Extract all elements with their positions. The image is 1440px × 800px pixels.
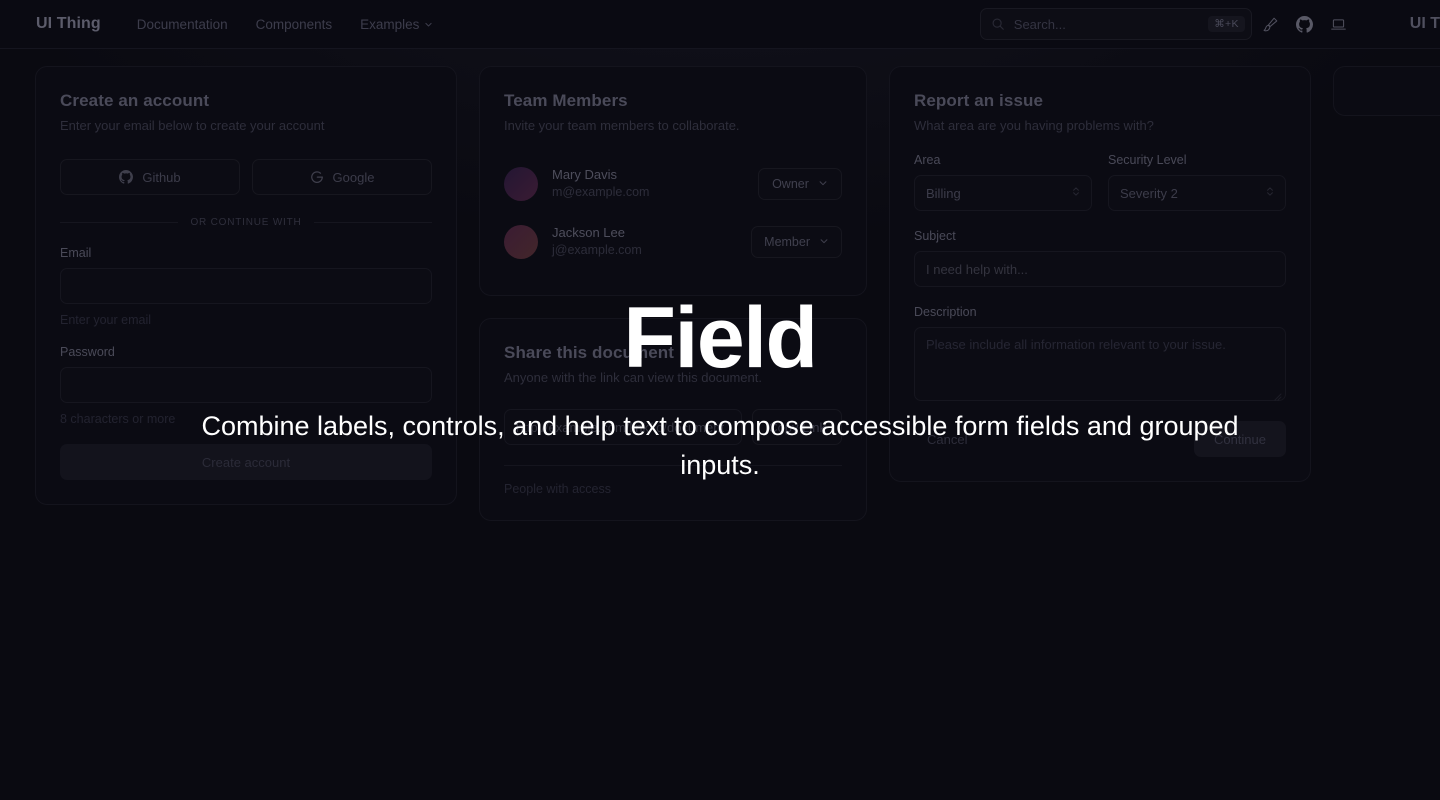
google-oauth-label: Google xyxy=(333,170,375,185)
team-members-description: Invite your team members to collaborate. xyxy=(504,118,842,133)
member-email: m@example.com xyxy=(552,184,649,201)
google-icon xyxy=(310,170,324,184)
search-input[interactable]: Search... ⌘+K xyxy=(980,8,1252,40)
member-role-label: Member xyxy=(764,235,810,249)
member-role-label: Owner xyxy=(772,177,809,191)
share-document-description: Anyone with the link can view this docum… xyxy=(504,370,842,385)
chevron-down-icon xyxy=(424,20,433,29)
divider-label: OR CONTINUE WITH xyxy=(190,217,301,228)
member-name: Mary Davis xyxy=(552,167,649,184)
password-field-group: Password 8 characters or more xyxy=(60,345,432,426)
column-two: Team Members Invite your team members to… xyxy=(479,66,867,521)
divider-line-right xyxy=(314,222,432,223)
security-level-select-value: Severity 2 xyxy=(1120,186,1178,201)
table-row: Jackson Lee j@example.com Member xyxy=(504,213,842,271)
github-icon[interactable] xyxy=(1290,9,1320,39)
report-issue-title: Report an issue xyxy=(914,91,1286,111)
continue-button[interactable]: Continue xyxy=(1194,421,1286,457)
laptop-icon[interactable] xyxy=(1324,9,1354,39)
search-placeholder: Search... xyxy=(1014,17,1066,32)
team-members-card: Team Members Invite your team members to… xyxy=(479,66,867,296)
top-navbar: UI Thing Documentation Components Exampl… xyxy=(0,0,1440,49)
github-oauth-label: Github xyxy=(142,170,180,185)
share-document-card: Share this document Anyone with the link… xyxy=(479,318,867,521)
share-document-title: Share this document xyxy=(504,343,842,363)
create-account-description: Enter your email below to create your ac… xyxy=(60,118,432,133)
security-level-select[interactable]: Severity 2 xyxy=(1108,175,1286,211)
navbar-right: Search... ⌘+K UI T xyxy=(980,8,1440,40)
copy-link-button[interactable]: Copy Link xyxy=(752,409,842,445)
report-issue-description: What area are you having problems with? xyxy=(914,118,1286,133)
member-info: Mary Davis m@example.com xyxy=(552,167,649,201)
nav-link-examples-label: Examples xyxy=(360,17,419,32)
subject-label: Subject xyxy=(914,229,1286,243)
app-root: UI Thing Documentation Components Exampl… xyxy=(0,0,1440,800)
report-issue-actions: Cancel Continue xyxy=(914,421,1286,457)
cancel-button[interactable]: Cancel xyxy=(914,421,980,457)
team-member-list: Mary Davis m@example.com Owner xyxy=(504,155,842,271)
area-field-group: Area Billing xyxy=(914,153,1092,211)
email-input[interactable] xyxy=(60,268,432,304)
offscreen-card xyxy=(1333,66,1440,116)
description-field-group: Description Please include all informati… xyxy=(914,305,1286,401)
description-placeholder: Please include all information relevant … xyxy=(926,337,1226,352)
nav-link-documentation[interactable]: Documentation xyxy=(137,17,228,32)
subject-field-group: Subject I need help with... xyxy=(914,229,1286,287)
area-security-row: Area Billing Security Level Severity 2 xyxy=(914,153,1286,211)
edge-brand-label: UI T xyxy=(1410,15,1440,33)
github-oauth-button[interactable]: Github xyxy=(60,159,240,195)
nav-link-components[interactable]: Components xyxy=(256,17,333,32)
card-grid: Create an account Enter your email below… xyxy=(35,66,1440,521)
chevron-updown-icon xyxy=(1265,185,1275,201)
resize-handle-icon[interactable] xyxy=(1274,389,1282,397)
area-label: Area xyxy=(914,153,1092,167)
search-shortcut-badge: ⌘+K xyxy=(1208,16,1245,33)
password-input[interactable] xyxy=(60,367,432,403)
member-name: Jackson Lee xyxy=(552,225,642,242)
subject-input[interactable]: I need help with... xyxy=(914,251,1286,287)
member-role-select[interactable]: Member xyxy=(751,226,842,258)
people-with-access-label: People with access xyxy=(504,482,842,496)
chevron-down-icon xyxy=(818,177,828,191)
create-account-title: Create an account xyxy=(60,91,432,111)
oauth-divider: OR CONTINUE WITH xyxy=(60,217,432,228)
primary-nav: Documentation Components Examples xyxy=(137,17,434,32)
password-help-text: 8 characters or more xyxy=(60,412,432,426)
create-account-card: Create an account Enter your email below… xyxy=(35,66,457,505)
create-account-button[interactable]: Create account xyxy=(60,444,432,480)
password-label: Password xyxy=(60,345,432,359)
avatar xyxy=(504,167,538,201)
avatar xyxy=(504,225,538,259)
divider-line-left xyxy=(60,222,178,223)
search-icon xyxy=(991,17,1005,31)
email-label: Email xyxy=(60,246,432,260)
paintbrush-icon[interactable] xyxy=(1256,9,1286,39)
email-help-text: Enter your email xyxy=(60,313,432,327)
brand-logo[interactable]: UI Thing xyxy=(36,15,101,33)
description-textarea[interactable]: Please include all information relevant … xyxy=(914,327,1286,401)
github-icon xyxy=(119,170,133,184)
share-link-row: http://example.com/link/to/document Copy… xyxy=(504,409,842,445)
security-level-label: Security Level xyxy=(1108,153,1286,167)
table-row: Mary Davis m@example.com Owner xyxy=(504,155,842,213)
nav-link-examples[interactable]: Examples xyxy=(360,17,433,32)
report-issue-card: Report an issue What area are you having… xyxy=(889,66,1311,482)
description-label: Description xyxy=(914,305,1286,319)
area-select-value: Billing xyxy=(926,186,961,201)
team-members-title: Team Members xyxy=(504,91,842,111)
divider xyxy=(504,465,842,466)
chevron-updown-icon xyxy=(1071,185,1081,201)
member-info: Jackson Lee j@example.com xyxy=(552,225,642,259)
oauth-button-row: Github Google xyxy=(60,159,432,195)
member-role-select[interactable]: Owner xyxy=(758,168,842,200)
share-link-input[interactable]: http://example.com/link/to/document xyxy=(504,409,742,445)
email-field-group: Email Enter your email xyxy=(60,246,432,327)
security-level-field-group: Security Level Severity 2 xyxy=(1108,153,1286,211)
area-select[interactable]: Billing xyxy=(914,175,1092,211)
member-email: j@example.com xyxy=(552,242,642,259)
chevron-down-icon xyxy=(819,235,829,249)
google-oauth-button[interactable]: Google xyxy=(252,159,432,195)
